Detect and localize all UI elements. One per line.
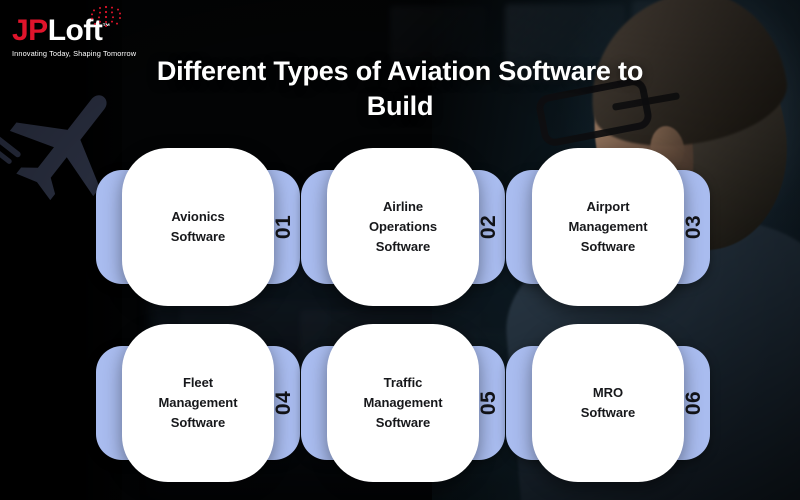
card-item[interactable]: Fleet Management Software 04 [108, 324, 288, 482]
card-item[interactable]: Avionics Software 01 [108, 148, 288, 306]
page-title: Different Types of Aviation Software to … [150, 54, 650, 123]
card-face[interactable]: Avionics Software [122, 148, 274, 306]
brand-logo[interactable]: JPLoft™ Innovating Today, Shaping Tomorr… [12, 16, 147, 58]
card-face[interactable]: Airline Operations Software [327, 148, 479, 306]
card-face[interactable]: Fleet Management Software [122, 324, 274, 482]
card-item[interactable]: Airline Operations Software 02 [313, 148, 493, 306]
card-label: Airline Operations Software [363, 197, 443, 257]
card-label: Fleet Management Software [153, 373, 244, 433]
brand-tagline: Innovating Today, Shaping Tomorrow [12, 49, 147, 58]
card-face[interactable]: Traffic Management Software [327, 324, 479, 482]
card-label: Avionics Software [165, 207, 232, 247]
card-item[interactable]: Traffic Management Software 05 [313, 324, 493, 482]
card-item[interactable]: MRO Software 06 [518, 324, 698, 482]
card-label: Traffic Management Software [358, 373, 449, 433]
card-face[interactable]: MRO Software [532, 324, 684, 482]
card-label: MRO Software [575, 383, 642, 423]
card-face[interactable]: Airport Management Software [532, 148, 684, 306]
card-item[interactable]: Airport Management Software 03 [518, 148, 698, 306]
infographic-canvas: JPLoft™ Innovating Today, Shaping Tomorr… [0, 0, 800, 500]
logo-jp-text: JP [12, 14, 48, 47]
card-grid: Avionics Software 01 Airline Operations … [108, 148, 698, 484]
card-label: Airport Management Software [563, 197, 654, 257]
globe-dots-icon [76, 4, 136, 30]
